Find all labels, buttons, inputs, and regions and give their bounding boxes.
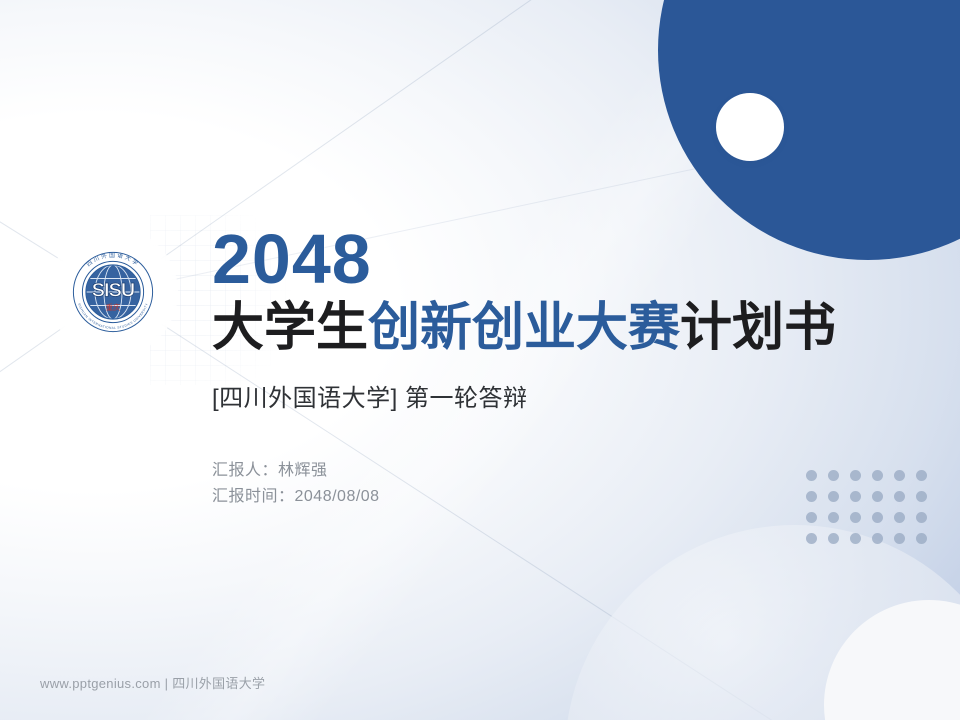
grid-dot: [806, 533, 817, 544]
presentation-meta: 汇报人：林辉强 汇报时间：2048/08/08: [212, 458, 912, 510]
report-date-line: 汇报时间：2048/08/08: [212, 484, 912, 510]
grid-dot: [828, 512, 839, 523]
title-slide: SISU 重庆 四川外国语大学 SICHUAN INTERNATIONAL ST…: [0, 0, 960, 720]
grid-dot: [828, 533, 839, 544]
grid-dot: [850, 512, 861, 523]
decorative-white-circle-top: [716, 93, 784, 161]
grid-dot: [916, 470, 927, 481]
headline-part-3: 计划书: [680, 299, 836, 357]
subtitle: [四川外国语大学] 第一轮答辩: [212, 384, 912, 414]
grid-dot: [916, 533, 927, 544]
grid-dot: [850, 533, 861, 544]
university-logo-icon: SISU 重庆 四川外国语大学 SICHUAN INTERNATIONAL ST…: [68, 247, 158, 337]
grid-dot: [806, 512, 817, 523]
main-headline: 大学生创新创业大赛计划书: [212, 298, 912, 358]
headline-part-1: 大学生: [212, 299, 368, 357]
svg-text:重庆: 重庆: [106, 303, 120, 312]
grid-dot: [872, 512, 883, 523]
presenter-line: 汇报人：林辉强: [212, 458, 912, 484]
title-text-block: 2048 大学生创新创业大赛计划书 [四川外国语大学] 第一轮答辩 汇报人：林辉…: [212, 222, 912, 510]
year-heading: 2048: [212, 222, 912, 296]
headline-part-2: 创新创业大赛: [368, 299, 680, 357]
footer-text: www.pptgenius.com | 四川外国语大学: [40, 673, 265, 692]
grid-dot: [916, 491, 927, 502]
svg-text:SISU: SISU: [92, 280, 135, 302]
grid-dot: [894, 512, 905, 523]
grid-dot: [894, 533, 905, 544]
grid-dot: [872, 533, 883, 544]
grid-dot: [916, 512, 927, 523]
